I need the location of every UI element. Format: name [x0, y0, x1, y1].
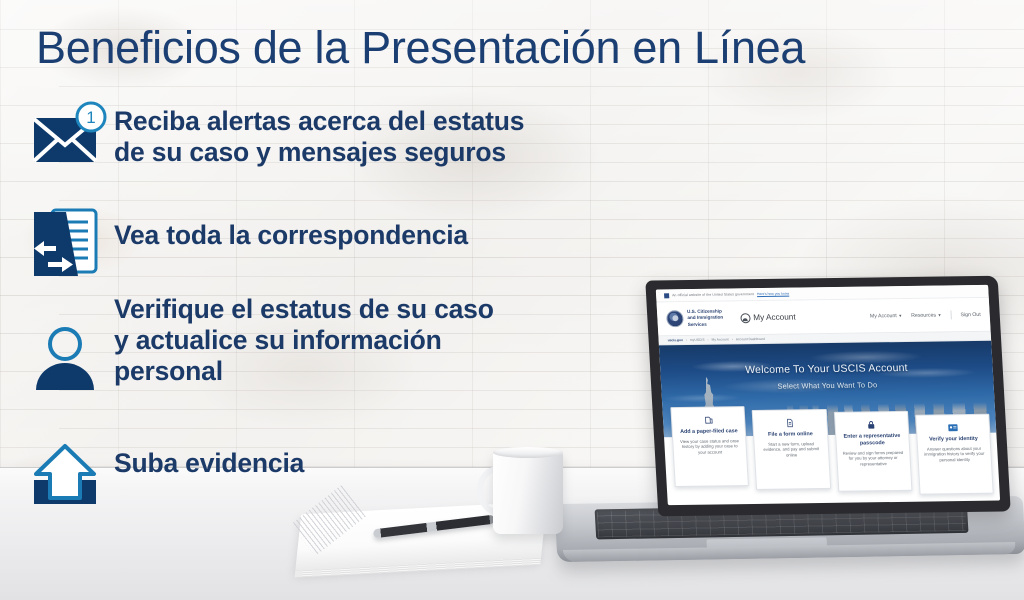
card-description: View your case status and case history b… — [678, 438, 741, 455]
benefit-line: Vea toda la correspondencia — [114, 220, 468, 251]
page-title: Beneficios de la Presentación en Línea — [36, 24, 916, 71]
uscis-seal-icon — [666, 310, 684, 327]
benefit-text-upload: Suba evidencia — [114, 434, 304, 479]
agency-name: U.S. Citizenship and Immigration Service… — [687, 309, 724, 328]
breadcrumb-item[interactable]: My Account — [711, 337, 728, 341]
laptop-base-lip — [563, 542, 1016, 562]
benefit-text-profile: Verifique el estatus de su caso y actual… — [114, 294, 494, 387]
benefit-text-correspondence: Vea toda la correspondencia — [114, 198, 468, 251]
envelope-alert-icon: 1 — [28, 100, 114, 186]
dhs-banner-link[interactable]: Here's how you know — [757, 292, 789, 296]
header-nav: My Account ▼ Resources ▼ Sign Out — [870, 310, 981, 321]
agency-line-3: Services — [688, 321, 707, 326]
benefit-line: Suba evidencia — [114, 448, 304, 479]
card-description: Review and sign forms prepared for you b… — [842, 449, 905, 466]
envelope-badge-count: 1 — [86, 108, 95, 127]
flag-icon — [664, 293, 669, 298]
upload-icon — [28, 440, 114, 526]
agency-line-2: and Immigration — [687, 315, 723, 320]
benefit-item-alerts: 1 Reciba alertas acerca del estatus de s… — [28, 100, 668, 198]
breadcrumb-separator: › — [707, 338, 708, 342]
agency-line-1: U.S. Citizenship — [687, 309, 722, 314]
nav-label: Resources — [911, 312, 936, 318]
benefit-line: de su caso y mensajes seguros — [114, 137, 524, 168]
card-title: File a form online — [759, 431, 822, 439]
card-verify-your-identity[interactable]: Verify your identity Answer questions ab… — [915, 414, 994, 495]
laptop-lid: An official website of the United States… — [645, 276, 1010, 517]
breadcrumb-item: Account Dashboard — [736, 337, 765, 341]
laptop: An official website of the United States… — [556, 278, 1024, 578]
card-title: Add a paper-filed case — [678, 428, 741, 436]
card-title: Enter a representative passcode — [841, 433, 904, 447]
chevron-down-icon: ▼ — [937, 312, 941, 317]
card-title: Verify your identity — [922, 436, 985, 444]
laptop-screen: An official website of the United States… — [656, 285, 1000, 505]
breadcrumb-home[interactable]: uscis.gov — [668, 338, 683, 342]
nav-item-resources[interactable]: Resources ▼ — [911, 312, 942, 318]
breadcrumb-separator: › — [732, 337, 733, 341]
nav-label: Sign Out — [960, 311, 981, 317]
mug-body — [493, 450, 563, 534]
lock-icon — [840, 419, 903, 430]
benefit-line: Reciba alertas acerca del estatus — [114, 106, 524, 137]
my-account-label[interactable]: My Account — [740, 312, 796, 323]
card-description: Start a new form, upload evidence, and p… — [760, 441, 823, 458]
nav-item-sign-out[interactable]: Sign Out — [960, 311, 981, 317]
benefit-line: y actualice su información — [114, 325, 494, 356]
account-person-icon — [740, 313, 751, 323]
benefit-line: Verifique el estatus de su caso — [114, 294, 494, 325]
chevron-down-icon: ▼ — [898, 313, 902, 318]
site-header: U.S. Citizenship and Immigration Service… — [657, 298, 991, 337]
nav-divider — [950, 310, 952, 319]
benefit-text-alerts: Reciba alertas acerca del estatus de su … — [114, 100, 524, 168]
coffee-mug — [483, 450, 571, 536]
form-online-icon — [758, 417, 821, 428]
benefit-line: personal — [114, 356, 494, 387]
card-add-paper-filed-case[interactable]: Add a paper-filed case View your case st… — [670, 406, 749, 487]
breadcrumb-separator: › — [686, 338, 687, 342]
id-card-icon — [921, 422, 984, 433]
card-enter-representative-passcode[interactable]: Enter a representative passcode Review a… — [833, 411, 912, 492]
card-file-a-form-online[interactable]: File a form online Start a new form, upl… — [752, 409, 831, 490]
nav-item-my-account[interactable]: My Account ▼ — [870, 313, 903, 319]
user-profile-icon — [28, 324, 114, 410]
dhs-banner-text: An official website of the United States… — [672, 292, 754, 297]
nav-label: My Account — [870, 313, 897, 319]
breadcrumb-item[interactable]: myUSCIS — [690, 338, 705, 342]
mug-rim — [493, 447, 563, 458]
action-cards: Add a paper-filed case View your case st… — [670, 403, 993, 498]
card-description: Answer questions about your immigration … — [923, 446, 986, 463]
my-account-text: My Account — [753, 313, 796, 323]
document-exchange-icon — [28, 206, 114, 292]
promo-graphic: Beneficios de la Presentación en Línea 1… — [0, 0, 1024, 600]
paper-file-icon — [677, 414, 740, 425]
